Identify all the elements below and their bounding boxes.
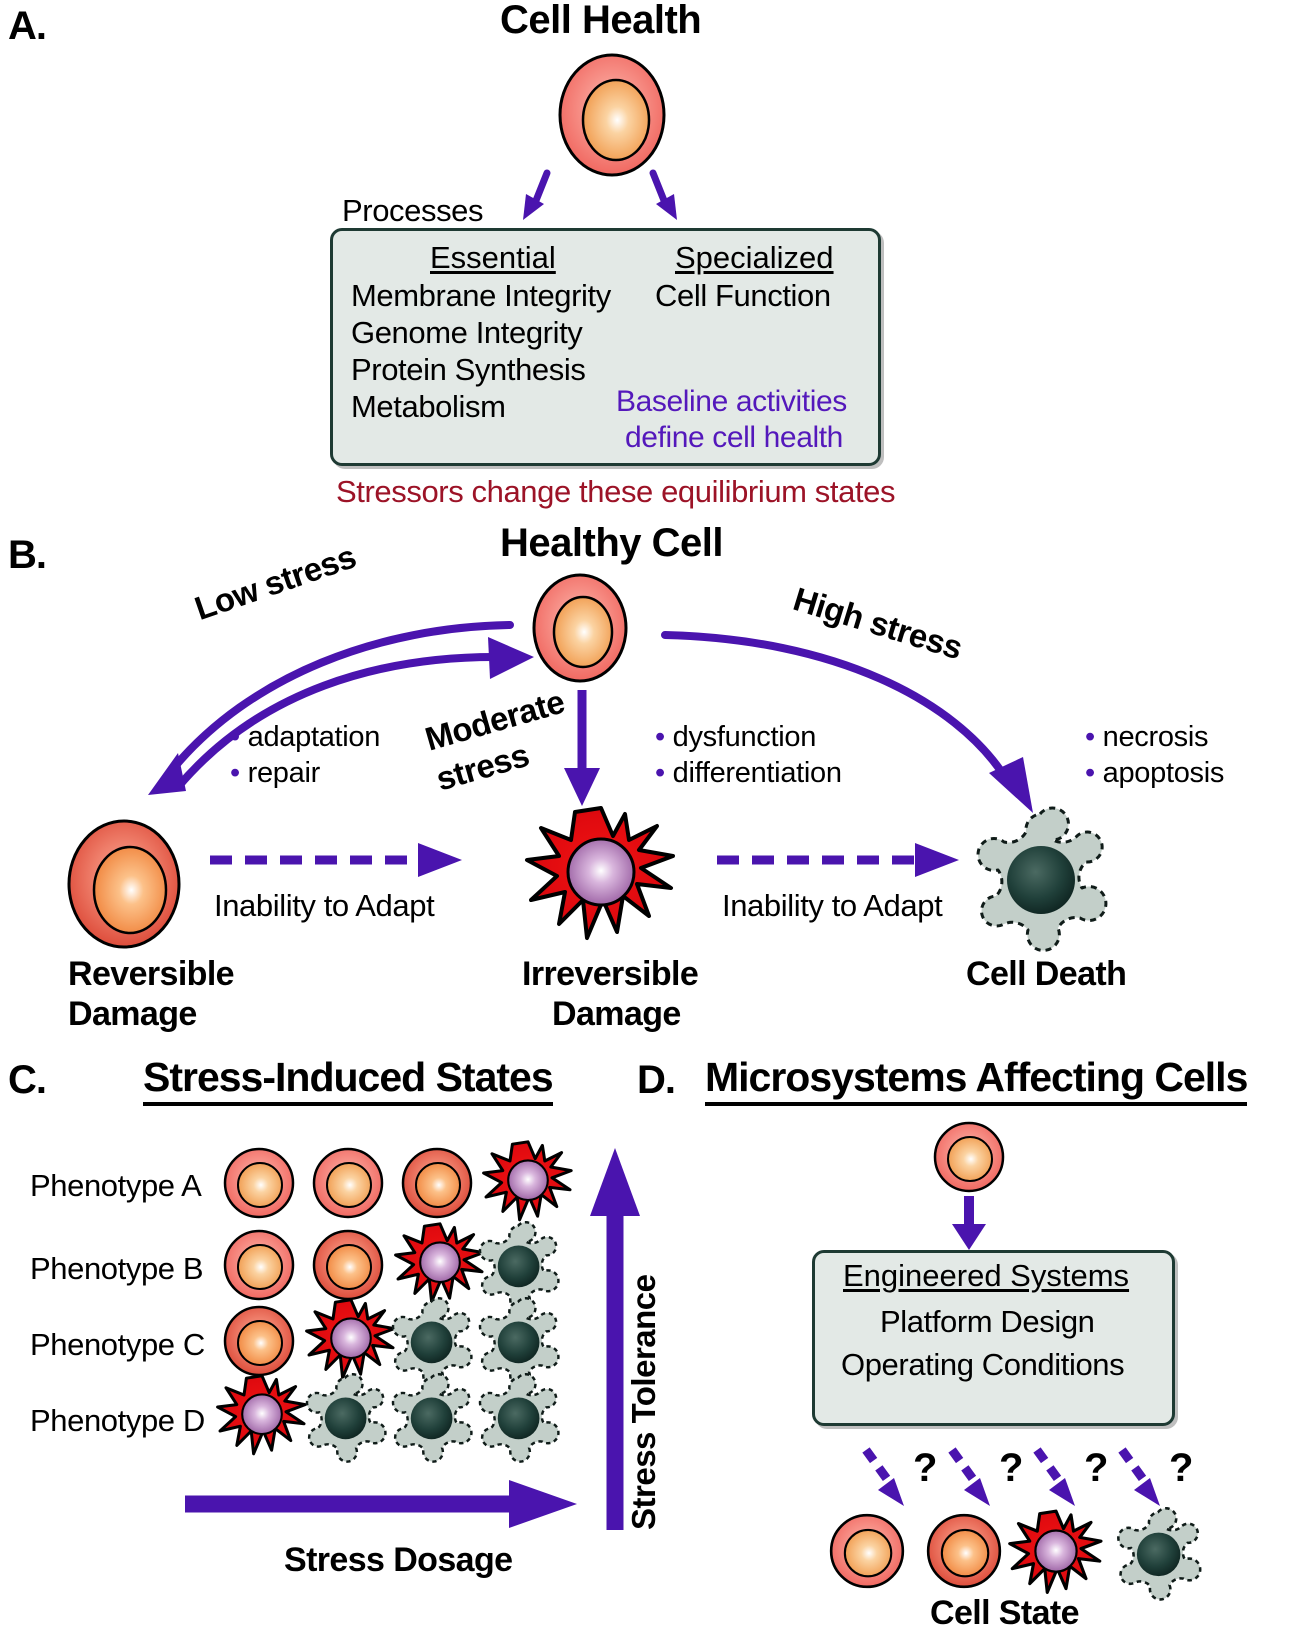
question-mark-1: ? <box>999 1446 1023 1491</box>
grid-cell-d1 <box>214 1370 310 1462</box>
healthy-cell-icon <box>222 1146 296 1220</box>
essential-item-2: Protein Synthesis <box>351 352 585 388</box>
baseline-line-2: define cell health <box>625 421 843 455</box>
healthy-cell-icon <box>222 1228 296 1302</box>
stressor-note: Stressors change these equilibrium state… <box>336 474 895 510</box>
healthy-cell-dark-icon <box>222 1304 296 1378</box>
engineered-systems-line-0: Platform Design <box>880 1304 1095 1340</box>
dead-cell-icon <box>1110 1508 1206 1602</box>
cell-irreversible-damage <box>521 800 681 950</box>
bullet-mid-0-label: dysfunction <box>673 721 816 753</box>
baseline-line-1: Baseline activities <box>616 385 847 419</box>
question-mark-2: ? <box>1084 1446 1108 1491</box>
bullet-right-0: • necrosis <box>1085 721 1208 754</box>
state-reversible-line2: Damage <box>68 995 197 1034</box>
engineered-systems-header: Engineered Systems <box>843 1258 1129 1294</box>
grid-cell-a3 <box>400 1146 474 1220</box>
essential-header: Essential <box>430 240 556 276</box>
panel-a-split-arrows <box>490 168 720 228</box>
outcome-cell-1 <box>925 1512 1003 1590</box>
bullet-right-1-label: apoptosis <box>1103 757 1224 789</box>
damaged-severe-cell-icon <box>1006 1505 1106 1601</box>
cell-healthy-panel-d <box>932 1120 1006 1194</box>
bullet-left-1: • repair <box>230 757 320 790</box>
phenotype-row-label-2: Phenotype C <box>30 1327 205 1363</box>
bullet-dot-icon: • <box>230 757 240 789</box>
healthy-cell-icon <box>553 50 671 178</box>
panel-b-letter: B. <box>8 533 46 578</box>
panel-c-letter: C. <box>8 1058 46 1103</box>
essential-item-1: Genome Integrity <box>351 315 582 351</box>
panel-a-title: Cell Health <box>500 0 701 43</box>
bullet-dot-icon: • <box>230 721 240 753</box>
phenotype-row-label-3: Phenotype D <box>30 1403 205 1439</box>
panel-c-title-wrap: Stress-Induced States <box>143 1054 553 1106</box>
phenotype-row-label-1: Phenotype B <box>30 1251 203 1287</box>
dashed-arrow-d1 <box>862 1448 912 1510</box>
healthy-cell-icon <box>828 1512 906 1590</box>
stress-tolerance-label: Stress Tolerance <box>625 1274 663 1530</box>
damaged-severe-cell-icon <box>214 1370 310 1462</box>
healthy-cell-icon <box>311 1146 385 1220</box>
dashed-arrow-2 <box>717 845 967 875</box>
essential-item-3: Metabolism <box>351 389 506 425</box>
bullet-right-0-label: necrosis <box>1103 721 1209 753</box>
grid-cell-c1 <box>222 1304 296 1378</box>
damaged-severe-cell-icon <box>480 1136 576 1228</box>
bullet-right-1: • apoptosis <box>1085 757 1224 790</box>
outcome-cell-3 <box>1110 1508 1206 1602</box>
panel-a-letter: A. <box>8 4 46 49</box>
dead-cell-icon <box>965 808 1115 954</box>
inability-label-2: Inability to Adapt <box>722 888 942 924</box>
dead-cell-icon <box>385 1374 477 1464</box>
outcome-cell-0 <box>828 1512 906 1590</box>
question-mark-0: ? <box>913 1446 937 1491</box>
dead-cell-icon <box>472 1374 564 1464</box>
bullet-dot-icon: • <box>655 721 665 753</box>
grid-cell-d3 <box>385 1374 477 1464</box>
healthy-cell-dark-icon <box>925 1512 1003 1590</box>
dashed-arrow-d3 <box>1033 1448 1083 1510</box>
processes-label: Processes <box>342 193 483 229</box>
specialized-item-0: Cell Function <box>655 278 831 314</box>
bullet-left-0-label: adaptation <box>248 721 380 753</box>
panel-c-title: Stress-Induced States <box>143 1054 553 1106</box>
phenotype-row-label-0: Phenotype A <box>30 1168 201 1204</box>
cell-reversible-damage <box>62 818 186 950</box>
cell-death <box>965 808 1115 954</box>
damaged-severe-cell-icon <box>521 800 681 950</box>
cell-healthy-panel-a <box>553 50 671 178</box>
grid-cell-a2 <box>311 1146 385 1220</box>
bullet-left-1-label: repair <box>248 757 320 789</box>
engineered-systems-line-1: Operating Conditions <box>841 1347 1124 1383</box>
state-reversible-line1: Reversible <box>68 955 234 994</box>
bullet-dot-icon: • <box>1085 757 1095 789</box>
stress-dosage-axis-arrow <box>185 1480 585 1528</box>
bullet-dot-icon: • <box>655 757 665 789</box>
bullet-left-0: • adaptation <box>230 721 380 754</box>
bullet-dot-icon: • <box>1085 721 1095 753</box>
bullet-mid-1-label: differentiation <box>673 757 842 789</box>
stress-dosage-label: Stress Dosage <box>284 1541 512 1580</box>
panel-d-down-arrow <box>950 1196 988 1252</box>
specialized-header: Specialized <box>675 240 834 276</box>
grid-cell-b2 <box>311 1228 385 1302</box>
damaged-mild-cell-icon <box>62 818 186 950</box>
grid-cell-d2 <box>299 1374 391 1464</box>
essential-item-0: Membrane Integrity <box>351 278 611 314</box>
panel-d-title: Microsystems Affecting Cells <box>705 1054 1247 1106</box>
grid-cell-a4 <box>480 1136 576 1228</box>
state-irreversible-line1: Irreversible <box>522 955 698 994</box>
question-mark-3: ? <box>1169 1446 1193 1491</box>
bullet-mid-0: • dysfunction <box>655 721 816 754</box>
panel-b-title: Healthy Cell <box>500 521 723 566</box>
cell-state-label: Cell State <box>930 1594 1079 1633</box>
bullet-mid-1: • differentiation <box>655 757 842 790</box>
dashed-arrow-d4 <box>1118 1448 1168 1510</box>
grid-cell-a1 <box>222 1146 296 1220</box>
healthy-cell-dark-icon <box>311 1228 385 1302</box>
healthy-cell-dark-icon <box>400 1146 474 1220</box>
dead-cell-icon <box>299 1374 391 1464</box>
moderate-stress-arrow <box>562 690 602 810</box>
grid-cell-b1 <box>222 1228 296 1302</box>
panel-d-letter: D. <box>637 1058 675 1103</box>
outcome-cell-2 <box>1006 1505 1106 1601</box>
dashed-arrow-1 <box>210 845 470 875</box>
inability-label-1: Inability to Adapt <box>214 888 434 924</box>
dashed-arrow-d2 <box>948 1448 998 1510</box>
state-cell-death: Cell Death <box>966 955 1126 994</box>
panel-d-title-wrap: Microsystems Affecting Cells <box>705 1054 1247 1106</box>
healthy-cell-icon <box>932 1120 1006 1194</box>
grid-cell-d4 <box>472 1374 564 1464</box>
state-irreversible-line2: Damage <box>552 995 681 1034</box>
